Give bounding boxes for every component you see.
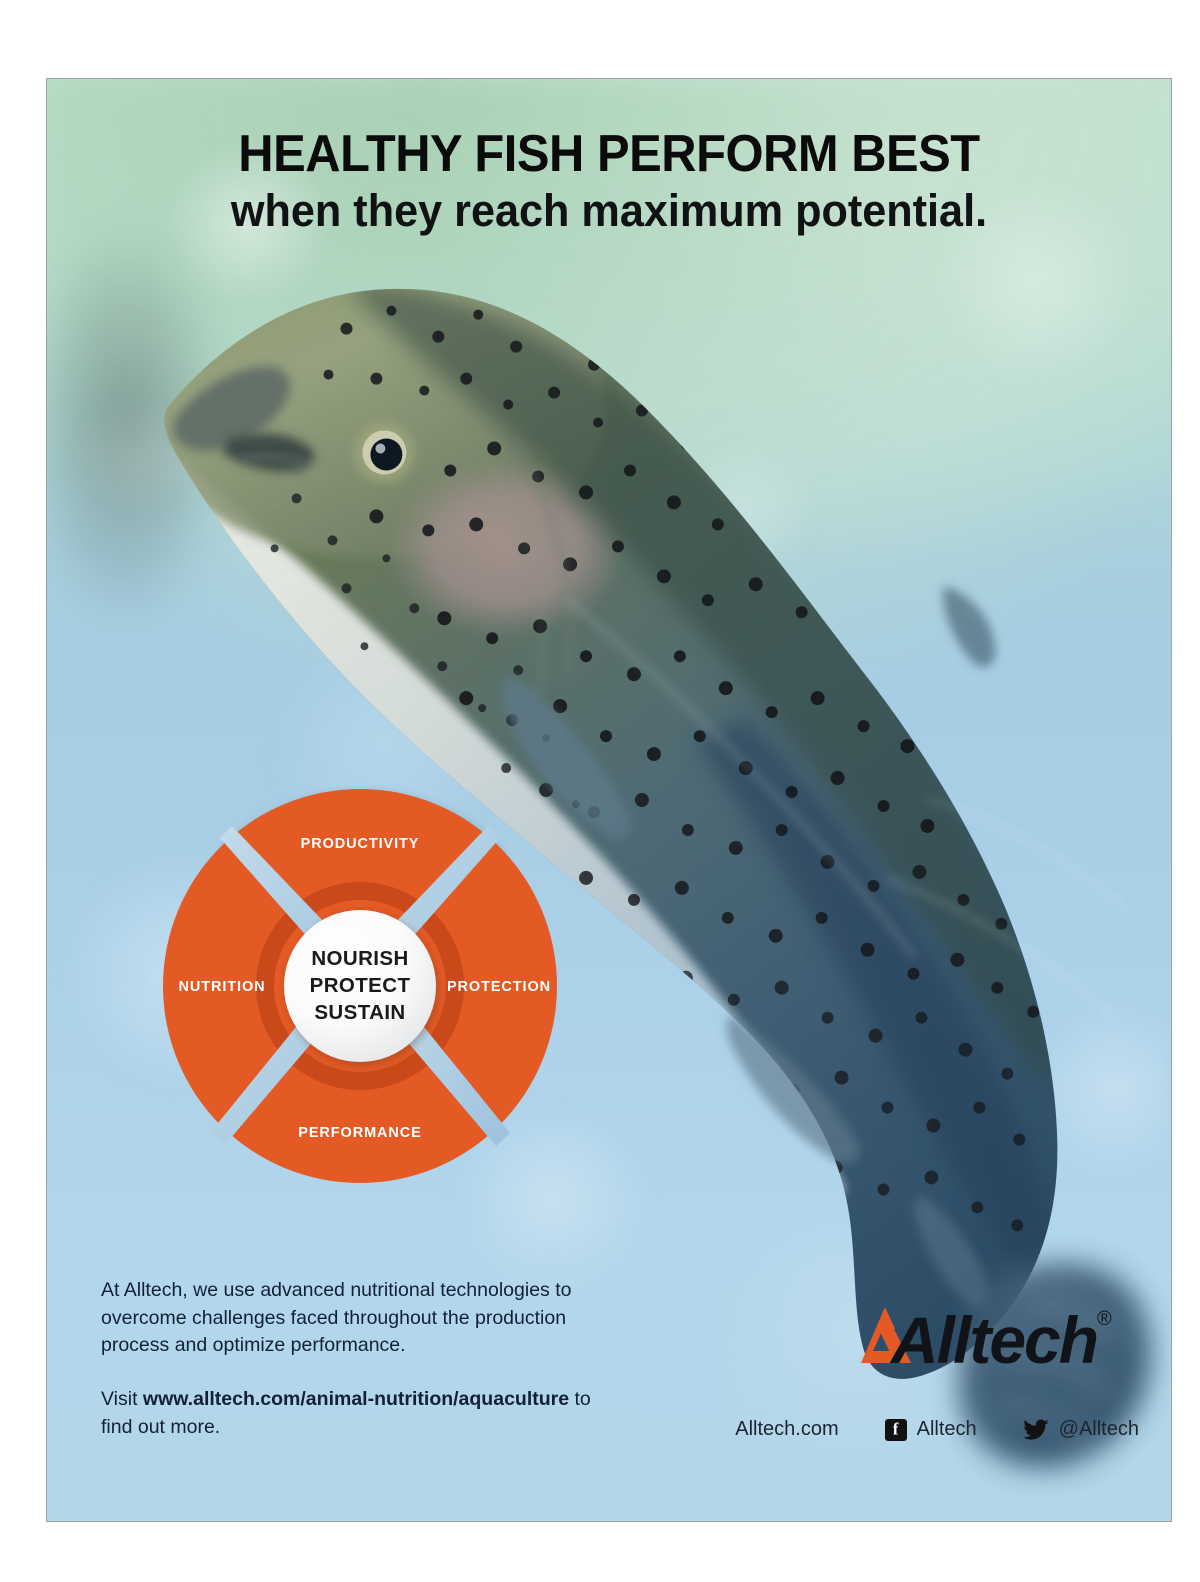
core-line-sustain: SUSTAIN: [314, 1001, 405, 1024]
segment-label-performance: PERFORMANCE: [298, 1125, 422, 1141]
nourish-protect-sustain-diagram: PRODUCTIVITY PROTECTION PERFORMANCE NUTR…: [159, 785, 561, 1187]
core-line-protect: PROTECT: [310, 974, 411, 997]
advertisement-frame: HEALTHY FISH PERFORM BEST when they reac…: [46, 78, 1172, 1522]
copy-spacer: [101, 1360, 621, 1386]
body-copy: At Alltech, we use advanced nutritional …: [101, 1277, 621, 1441]
registered-mark: ®: [1097, 1308, 1112, 1330]
cta-prefix: Visit: [101, 1388, 143, 1410]
facebook-icon[interactable]: [885, 1419, 907, 1441]
website-label: Alltech.com: [735, 1418, 838, 1441]
twitter-label: @Alltech: [1059, 1418, 1139, 1441]
alltech-wordmark: Alltech: [889, 1303, 1097, 1375]
body-paragraph: At Alltech, we use advanced nutritional …: [101, 1277, 621, 1360]
social-footer: Alltech.com Alltech @Alltech: [735, 1418, 1139, 1441]
segment-label-nutrition: NUTRITION: [178, 979, 265, 995]
website-link[interactable]: Alltech.com: [735, 1418, 838, 1441]
segment-label-productivity: PRODUCTIVITY: [301, 836, 420, 852]
cta-url[interactable]: www.alltech.com/animal-nutrition/aquacul…: [143, 1388, 569, 1410]
cta-line: Visit www.alltech.com/animal-nutrition/a…: [101, 1386, 621, 1441]
page-subtitle: when they reach maximum potential.: [69, 186, 1148, 236]
facebook-link[interactable]: Alltech: [885, 1418, 977, 1441]
segment-label-protection: PROTECTION: [447, 979, 551, 995]
alltech-logo: Alltech ®: [825, 1291, 1137, 1375]
twitter-bird-icon[interactable]: [1023, 1419, 1049, 1441]
ad-page: HEALTHY FISH PERFORM BEST when they reac…: [0, 0, 1200, 1582]
headline-block: HEALTHY FISH PERFORM BEST when they reac…: [47, 127, 1171, 236]
facebook-label: Alltech: [917, 1418, 977, 1441]
twitter-link[interactable]: @Alltech: [1023, 1418, 1139, 1441]
core-line-nourish: NOURISH: [311, 947, 408, 970]
page-title: HEALTHY FISH PERFORM BEST: [81, 127, 1138, 182]
